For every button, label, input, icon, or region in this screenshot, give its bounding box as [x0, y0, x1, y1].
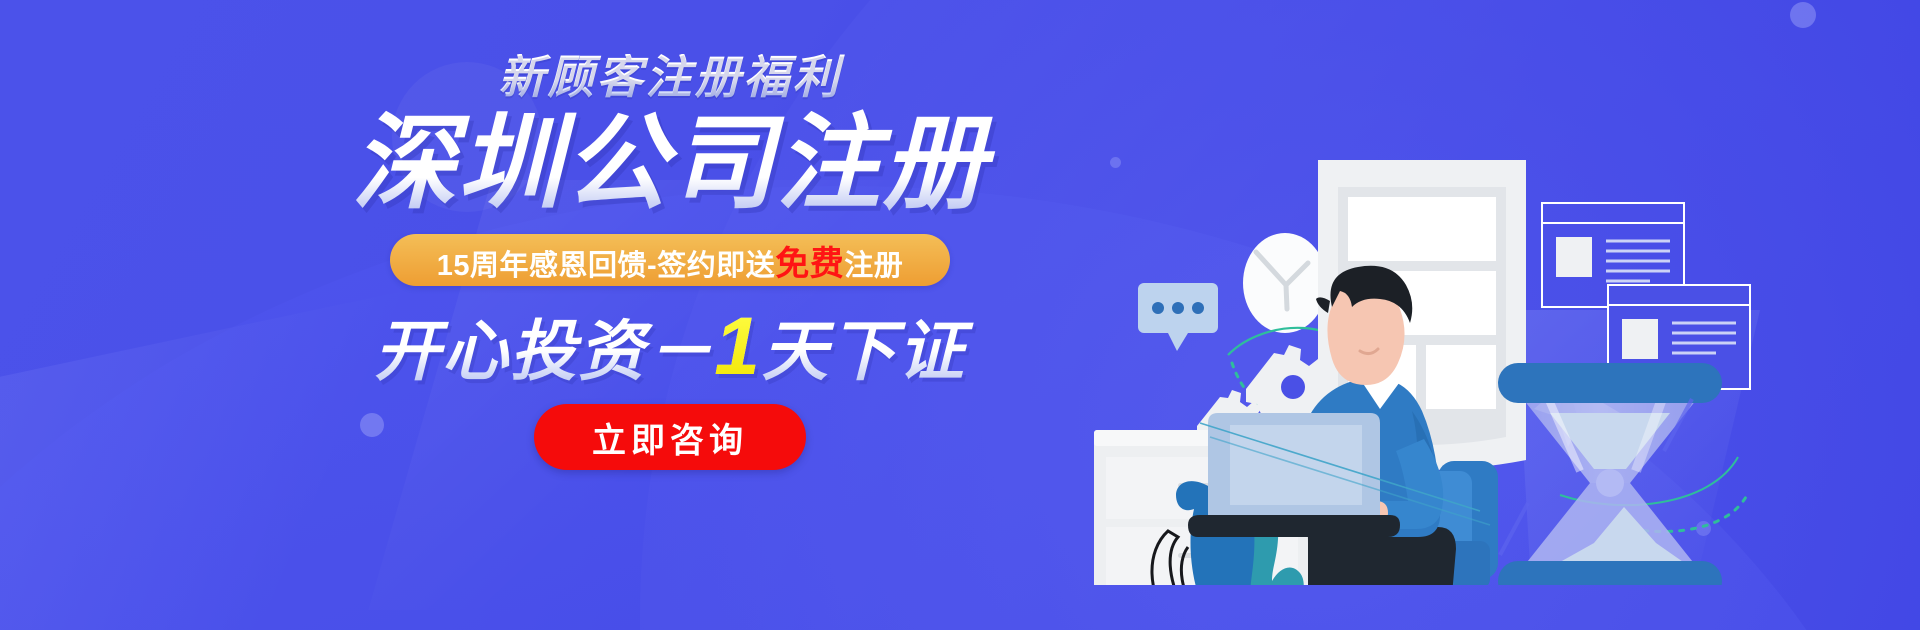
banner-tagline: 开心投资－1天下证	[330, 306, 1010, 388]
laptop	[1188, 413, 1400, 537]
chat-bubble-icon	[1138, 283, 1218, 351]
banner-copy: 新顾客注册福利 深圳公司注册 15周年感恩回馈-签约即送免费注册 开心投资－1天…	[330, 54, 1010, 470]
banner-headline: 深圳公司注册	[330, 108, 1010, 220]
decorative-dot	[1790, 2, 1816, 28]
promo-banner: 新顾客注册福利 深圳公司注册 15周年感恩回馈-签约即送免费注册 开心投资－1天…	[0, 0, 1920, 630]
hero-illustration	[1060, 95, 1800, 585]
tagline-suffix: 天下证	[762, 314, 966, 388]
promo-pill-lead: 15周年感恩回馈-签约即送	[437, 250, 775, 282]
tagline-number: 1	[714, 301, 762, 392]
promo-pill: 15周年感恩回馈-签约即送免费注册	[390, 234, 950, 286]
tagline-prefix: 开心投资－	[374, 314, 714, 388]
consult-now-button[interactable]: 立即咨询	[534, 404, 806, 470]
banner-eyebrow: 新顾客注册福利	[330, 54, 1010, 100]
promo-pill-highlight: 免费	[775, 245, 844, 283]
promo-pill-trail: 注册	[844, 250, 903, 282]
promo-pill-text: 15周年感恩回馈-签约即送免费注册	[437, 236, 903, 285]
wall-clock-icon	[1243, 233, 1327, 333]
